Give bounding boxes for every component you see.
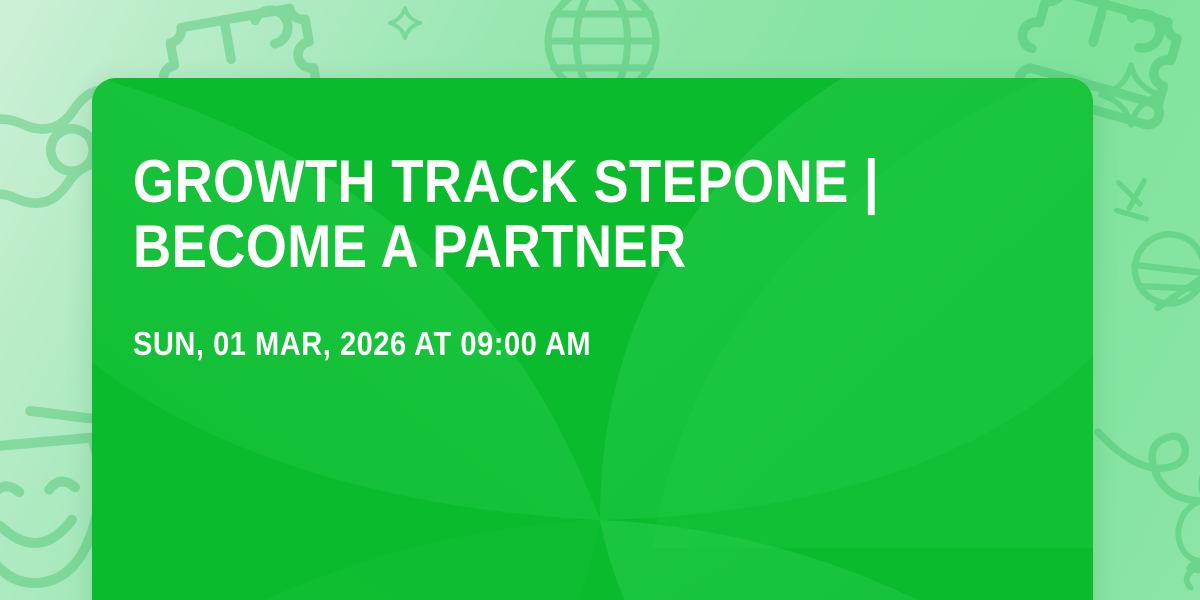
sparkle-icon [386,4,424,42]
page-title: GROWTH TRACK STEPONE | BECOME A PARTNER [133,150,943,280]
event-datetime: SUN, 01 MAR, 2026 AT 09:00 AM [133,326,943,362]
sparkle-icon [1096,60,1166,130]
card-copy: GROWTH TRACK STEPONE | BECOME A PARTNER … [133,150,1053,362]
event-card[interactable]: GROWTH TRACK STEPONE | BECOME A PARTNER … [92,78,1093,600]
event-banner: GROWTH TRACK STEPONE | BECOME A PARTNER … [0,0,1200,600]
